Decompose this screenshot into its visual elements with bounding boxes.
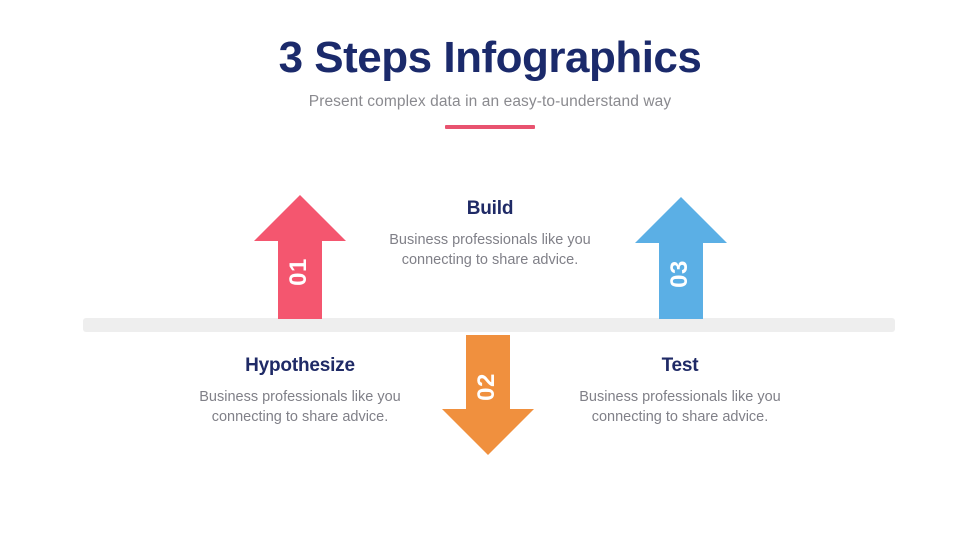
step-number-01: 01 bbox=[285, 226, 313, 318]
step-number-03: 03 bbox=[666, 228, 694, 320]
step-body-test: Business professionals like you connecti… bbox=[577, 387, 783, 427]
step-body-build: Business professionals like you connecti… bbox=[385, 230, 595, 270]
step-heading-hypothesize: Hypothesize bbox=[194, 355, 406, 377]
page-title: 3 Steps Infographics bbox=[0, 34, 980, 82]
infographic-slide: 3 Steps Infographics Present complex dat… bbox=[0, 0, 980, 551]
step-arrow-03: 03 bbox=[635, 197, 727, 319]
timeline-bar bbox=[83, 318, 895, 332]
step-heading-test: Test bbox=[577, 355, 783, 377]
slide-header: 3 Steps Infographics Present complex dat… bbox=[0, 34, 980, 129]
step-arrow-01: 01 bbox=[254, 195, 346, 319]
step-block-test: Test Business professionals like you con… bbox=[577, 355, 783, 427]
step-block-hypothesize: Hypothesize Business professionals like … bbox=[194, 355, 406, 427]
page-subtitle: Present complex data in an easy-to-under… bbox=[0, 93, 980, 111]
step-heading-build: Build bbox=[385, 198, 595, 220]
step-block-build: Build Business professionals like you co… bbox=[385, 198, 595, 270]
title-divider bbox=[445, 125, 535, 129]
step-body-hypothesize: Business professionals like you connecti… bbox=[194, 387, 406, 427]
step-arrow-02: 02 bbox=[442, 335, 534, 455]
step-number-02: 02 bbox=[473, 341, 501, 433]
